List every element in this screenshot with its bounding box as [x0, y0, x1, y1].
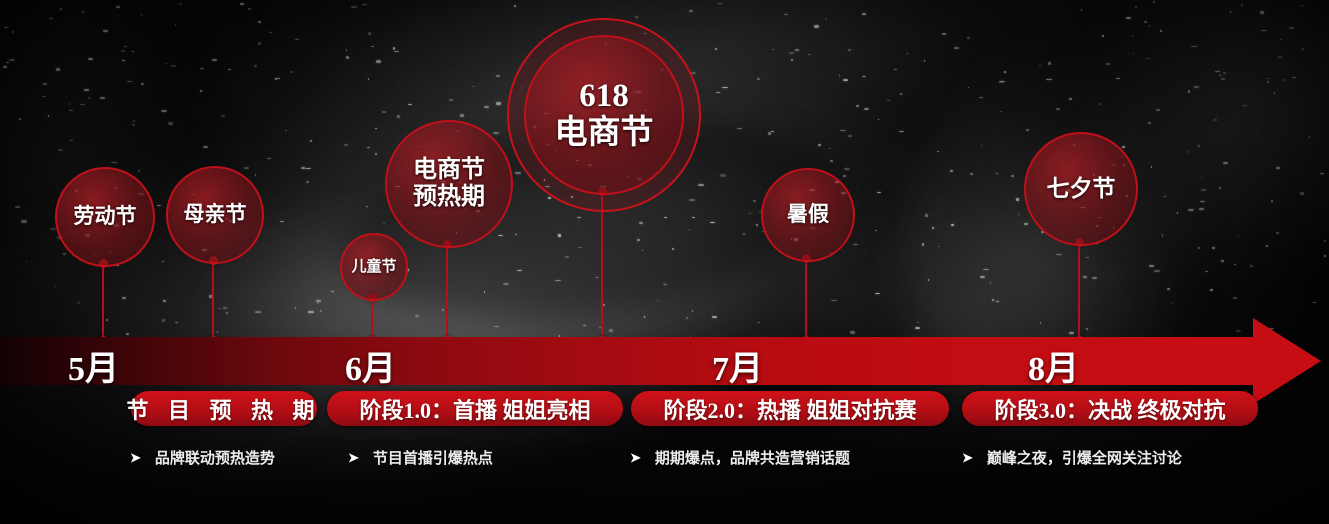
phase-bullet-1-0: ➤节目首播引爆热点: [348, 447, 493, 468]
phase-bullet-3-0: ➤巅峰之夜，引爆全网关注讨论: [962, 447, 1182, 468]
event-bubble-3[interactable]: 电商节预热期: [385, 120, 513, 248]
phase-bullet-2-0: ➤期期爆点，品牌共造营销话题: [630, 447, 850, 468]
month-label-2: 7月: [712, 341, 763, 390]
phase-pill-1[interactable]: 阶段1.0：首播 姐姐亮相: [327, 391, 623, 426]
bullet-arrow-icon: ➤: [348, 450, 359, 466]
event-bubble-6[interactable]: 七夕节: [1024, 132, 1138, 246]
bubble-connector-stem: [212, 260, 214, 341]
event-bubble-label: 618电商节: [555, 78, 654, 152]
bullet-text: 品牌联动预热造势: [155, 447, 275, 468]
event-bubble-label: 七夕节: [1047, 176, 1116, 202]
bubble-connector-stem: [805, 258, 807, 341]
bubble-connector-stem: [601, 191, 603, 341]
phase-pill-label: 阶段3.0：决战 终极对抗: [994, 393, 1225, 425]
bullet-arrow-icon: ➤: [962, 450, 973, 466]
bubble-connector-stem: [1078, 242, 1080, 341]
event-bubble-4[interactable]: 618电商节: [524, 35, 684, 195]
bubble-connector-stem: [102, 263, 104, 341]
event-bubble-label: 暑假: [787, 203, 829, 227]
phase-pill-label: 阶段1.0：首播 姐姐亮相: [359, 393, 590, 425]
event-bubble-1[interactable]: 母亲节: [166, 166, 264, 264]
bullet-arrow-icon: ➤: [130, 450, 141, 466]
phase-pill-label: 节 目 预 热 期: [127, 393, 322, 425]
phase-pill-2[interactable]: 阶段2.0：热播 姐姐对抗赛: [631, 391, 949, 426]
month-label-0: 5月: [68, 341, 119, 390]
month-label-3: 8月: [1028, 341, 1079, 390]
event-bubble-label: 劳动节: [74, 205, 137, 229]
phase-pill-label: 阶段2.0：热播 姐姐对抗赛: [663, 393, 916, 425]
event-bubble-0[interactable]: 劳动节: [55, 167, 155, 267]
timeline-arrowhead: [1253, 318, 1321, 404]
bubble-connector-stem: [371, 297, 373, 341]
event-bubble-2[interactable]: 儿童节: [340, 233, 408, 301]
phase-bullet-0-0: ➤品牌联动预热造势: [130, 447, 275, 468]
bubble-connector-stem: [446, 244, 448, 341]
event-bubble-label: 母亲节: [184, 203, 247, 227]
event-bubble-label: 电商节预热期: [413, 157, 485, 211]
bullet-text: 巅峰之夜，引爆全网关注讨论: [987, 447, 1182, 468]
month-label-1: 6月: [345, 341, 396, 390]
phase-pill-3[interactable]: 阶段3.0：决战 终极对抗: [962, 391, 1258, 426]
event-bubble-label: 儿童节: [351, 259, 396, 276]
phase-pill-0[interactable]: 节 目 预 热 期: [131, 391, 317, 426]
timeline-infographic: 劳动节母亲节儿童节电商节预热期618电商节暑假七夕节 5月6月7月8月 节 目 …: [0, 0, 1329, 524]
event-bubble-5[interactable]: 暑假: [761, 168, 855, 262]
bullet-text: 期期爆点，品牌共造营销话题: [655, 447, 850, 468]
bullet-text: 节目首播引爆热点: [373, 447, 493, 468]
bullet-arrow-icon: ➤: [630, 450, 641, 466]
